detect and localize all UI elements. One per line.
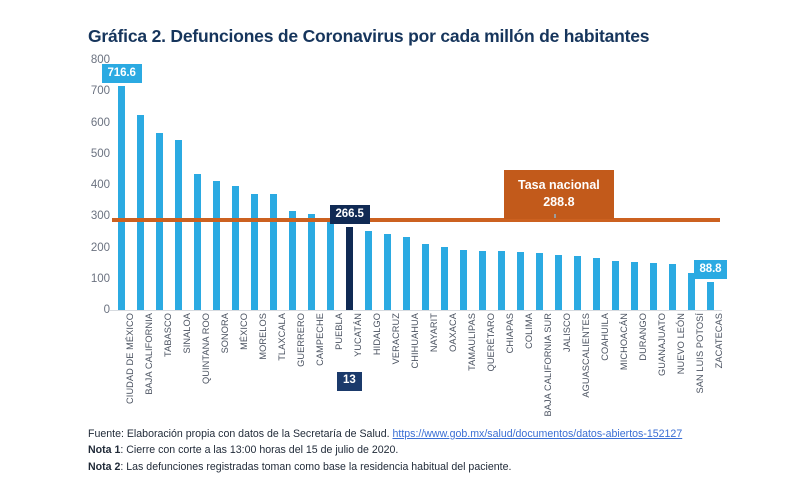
x-axis-label: CAMPECHE <box>315 313 325 366</box>
bar[interactable] <box>612 261 619 310</box>
bar[interactable] <box>536 253 543 310</box>
x-axis-label: BAJA CALIFORNIA SUR <box>543 313 553 417</box>
y-axis-tick: 300 <box>91 210 110 222</box>
bar[interactable] <box>118 86 125 310</box>
x-axis-label: QUINTANA ROO <box>201 313 211 384</box>
bar[interactable] <box>308 214 315 310</box>
x-axis-label: NUEVO LEÓN <box>676 313 686 374</box>
x-axis-label: CIUDAD DE MÉXICO <box>125 313 135 404</box>
x-axis-label: JALISCO <box>562 313 572 352</box>
footnote-note-2-label: Nota 2 <box>88 461 120 473</box>
bar[interactable] <box>593 258 600 310</box>
bar[interactable] <box>479 251 486 310</box>
national-rate-stem <box>554 214 556 218</box>
bar[interactable] <box>574 256 581 310</box>
x-axis-label: MÉXICO <box>239 313 249 350</box>
x-axis-label: GUERRERO <box>296 313 306 367</box>
bar[interactable] <box>403 237 410 310</box>
x-axis-label: BAJA CALIFORNIA <box>144 313 154 395</box>
y-axis-tick: 700 <box>91 85 110 97</box>
x-axis-label: QUERÉTARO <box>486 313 496 371</box>
bar[interactable] <box>707 282 714 310</box>
bar[interactable] <box>422 244 429 310</box>
x-axis-label: GUANAJUATO <box>657 313 667 376</box>
y-axis: 0100200300400500600700800 <box>78 52 110 318</box>
x-axis-line <box>110 310 722 311</box>
y-axis-tick: 500 <box>91 148 110 160</box>
national-rate-line <box>112 218 720 222</box>
footnote-note-1: Nota 1: Cierre con corte a las 13:00 hor… <box>88 442 748 458</box>
callout-highlight-value: 266.5 <box>330 205 370 224</box>
x-axis-label: SAN LUIS POTOSÍ <box>695 313 705 393</box>
x-axis-label: HIDALGO <box>372 313 382 355</box>
footnotes: Fuente: Elaboración propia con datos de … <box>88 426 748 475</box>
bar[interactable] <box>327 220 334 310</box>
x-axis-label: COAHUILA <box>600 313 610 361</box>
x-axis-label: MORELOS <box>258 313 268 360</box>
callout-min-value: 88.8 <box>694 260 728 279</box>
rank-badge: 13 <box>337 372 362 391</box>
page-title: Gráfica 2. Defunciones de Coronavirus po… <box>88 26 649 47</box>
x-axis-label: AGUASCALIENTES <box>581 313 591 398</box>
bar[interactable] <box>384 234 391 310</box>
bar[interactable] <box>194 174 201 310</box>
footnote-source: Fuente: Elaboración propia con datos de … <box>88 426 748 442</box>
x-axis-label: COLIMA <box>524 313 534 349</box>
x-axis-label: NAYARIT <box>429 313 439 352</box>
bar[interactable] <box>498 251 505 310</box>
bar[interactable] <box>270 194 277 310</box>
bar[interactable] <box>137 115 144 310</box>
x-axis-label: TAMAULIPAS <box>467 313 477 371</box>
bar[interactable] <box>213 181 220 310</box>
x-axis-label: TABASCO <box>163 313 173 357</box>
bar[interactable] <box>517 252 524 310</box>
y-axis-tick: 600 <box>91 117 110 129</box>
bar-highlighted[interactable] <box>346 227 353 310</box>
x-axis-label: ZACATECAS <box>714 313 724 368</box>
footnote-note-2-text: : Las defunciones registradas toman como… <box>120 461 511 473</box>
x-axis-label: CHIAPAS <box>505 313 515 353</box>
x-axis-labels: CIUDAD DE MÉXICOBAJA CALIFORNIATABASCOSI… <box>112 313 720 413</box>
bar[interactable] <box>441 247 448 310</box>
x-axis-label: MICHOACÁN <box>619 313 629 370</box>
bar[interactable] <box>251 194 258 310</box>
bar[interactable] <box>175 140 182 310</box>
y-axis-tick: 400 <box>91 179 110 191</box>
national-rate-box: Tasa nacional288.8 <box>504 170 614 219</box>
x-axis-label: TLAXCALA <box>277 313 287 361</box>
footnote-note-1-text: : Cierre con corte a las 13:00 horas del… <box>120 444 398 456</box>
x-axis-label: OAXACA <box>448 313 458 352</box>
national-rate-label: Tasa nacional <box>518 177 600 194</box>
bar[interactable] <box>365 231 372 310</box>
footnote-source-link[interactable]: https://www.gob.mx/salud/documentos/dato… <box>392 428 682 440</box>
y-axis-tick: 100 <box>91 273 110 285</box>
x-axis-label: CHIHUAHUA <box>410 313 420 369</box>
bar[interactable] <box>669 264 676 310</box>
x-axis-label: VERACRUZ <box>391 313 401 364</box>
callout-max-value: 716.6 <box>102 64 142 83</box>
bar[interactable] <box>555 255 562 310</box>
x-axis-label: YUCATÁN <box>353 313 363 357</box>
plot-area <box>112 60 720 310</box>
x-axis-label: PUEBLA <box>334 313 344 350</box>
bar[interactable] <box>650 263 657 310</box>
bar[interactable] <box>631 262 638 310</box>
x-axis-label: SINALOA <box>182 313 192 354</box>
footnote-source-text: Fuente: Elaboración propia con datos de … <box>88 428 392 440</box>
y-axis-tick: 200 <box>91 242 110 254</box>
x-axis-label: SONORA <box>220 313 230 353</box>
bar[interactable] <box>460 250 467 310</box>
footnote-note-2: Nota 2: Las defunciones registradas toma… <box>88 459 748 475</box>
footnote-note-1-label: Nota 1 <box>88 444 120 456</box>
x-axis-label: DURANGO <box>638 313 648 361</box>
bar[interactable] <box>289 211 296 310</box>
bar[interactable] <box>232 186 239 310</box>
national-rate-value: 288.8 <box>518 194 600 211</box>
